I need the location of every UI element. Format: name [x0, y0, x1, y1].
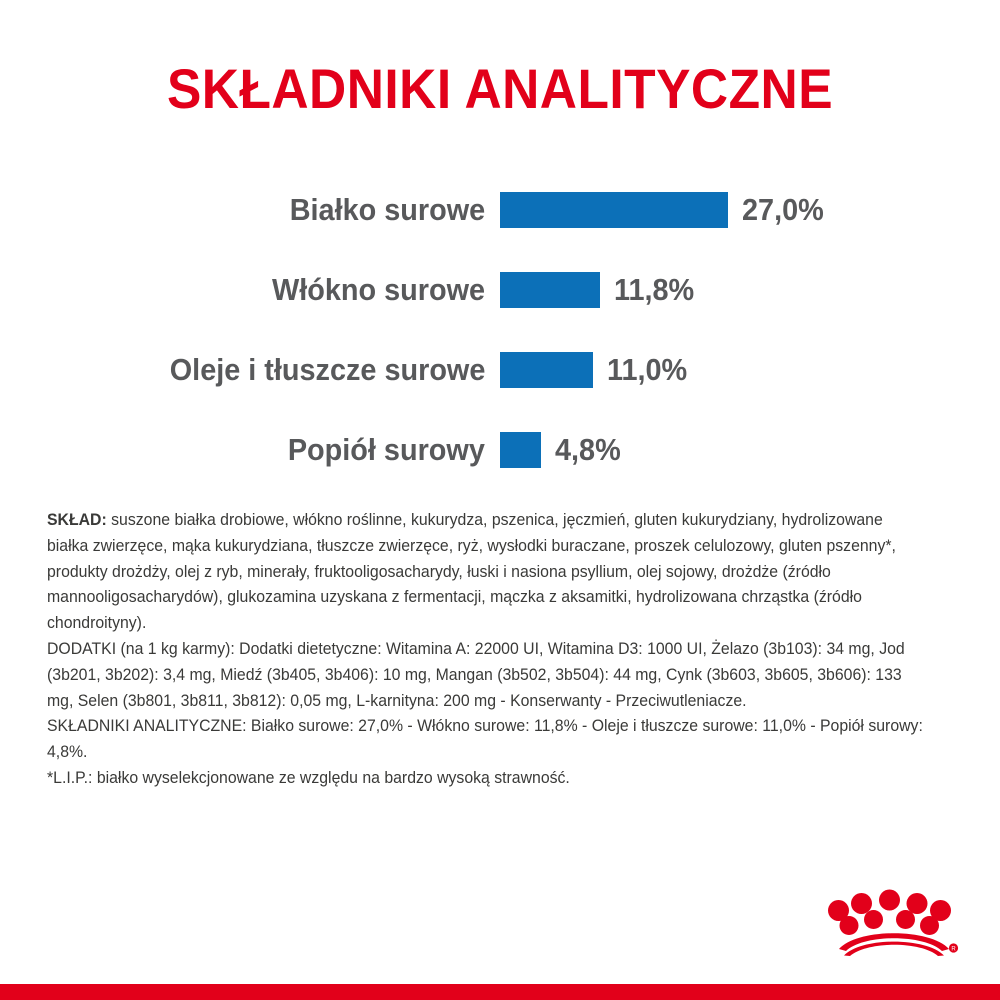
page-title: SKŁADNIKI ANALITYCZNE	[40, 56, 960, 121]
analytical-constituents-chart: Białko surowe 27,0% Włókno surowe 11,8% …	[0, 170, 1000, 490]
svg-text:R: R	[951, 946, 956, 952]
chart-bar-zone: 11,8%	[500, 250, 700, 330]
chart-bar	[500, 272, 600, 308]
ingredients-text-block: SKŁAD: suszone białka drobiowe, włókno r…	[47, 508, 927, 792]
chart-row-value: 11,8%	[614, 272, 694, 308]
composition-lead-label: SKŁAD:	[47, 511, 107, 529]
analytical-constituents-paragraph: SKŁADNIKI ANALITYCZNE: Białko surowe: 27…	[47, 714, 927, 766]
chart-row: Popiół surowy 4,8%	[0, 410, 1000, 490]
bottom-red-band	[0, 984, 1000, 1000]
chart-bar-zone: 27,0%	[500, 170, 830, 250]
composition-body: suszone białka drobiowe, włókno roślinne…	[47, 511, 896, 632]
chart-bar	[500, 432, 541, 468]
chart-bar	[500, 352, 593, 388]
chart-row-label: Popiół surowy	[288, 410, 485, 490]
composition-paragraph: SKŁAD: suszone białka drobiowe, włókno r…	[47, 508, 927, 637]
chart-row-label: Białko surowe	[290, 170, 485, 250]
chart-row-label: Oleje i tłuszcze surowe	[169, 330, 485, 410]
chart-row-value: 11,0%	[607, 352, 687, 388]
product-info-panel: SKŁADNIKI ANALITYCZNE Białko surowe 27,0…	[0, 0, 1000, 1000]
chart-bar-zone: 11,0%	[500, 330, 693, 410]
chart-row: Oleje i tłuszcze surowe 11,0%	[0, 330, 1000, 410]
royal-canin-crown-logo: R	[828, 882, 960, 956]
chart-bar-zone: 4,8%	[500, 410, 626, 490]
chart-row: Białko surowe 27,0%	[0, 170, 1000, 250]
additives-paragraph: DODATKI (na 1 kg karmy): Dodatki dietety…	[47, 637, 927, 714]
chart-bar	[500, 192, 728, 228]
chart-row: Włókno surowe 11,8%	[0, 250, 1000, 330]
lip-footnote: *L.I.P.: białko wyselekcjonowane ze wzgl…	[47, 766, 927, 792]
chart-row-value: 4,8%	[555, 432, 621, 468]
chart-row-label: Włókno surowe	[272, 250, 485, 330]
chart-row-value: 27,0%	[742, 192, 824, 228]
